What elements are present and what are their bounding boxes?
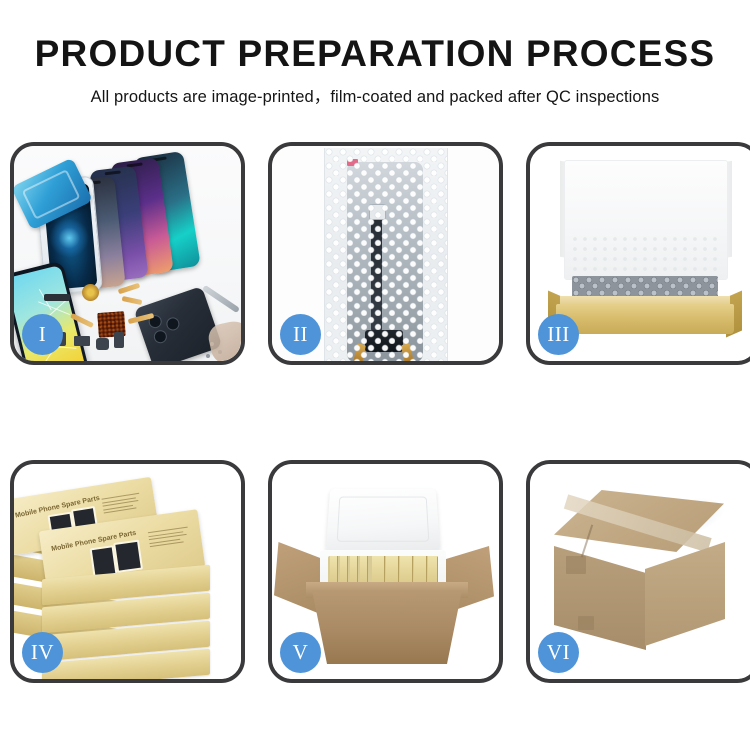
step-badge-3: III [538,314,579,355]
bubble-wrap-texture [325,148,447,361]
step-badge-6: VI [538,632,579,673]
step-badge-2: II [280,314,321,355]
foam-sheet [570,234,722,278]
carton-tape-patch-b [578,616,594,630]
part-screw-c [206,354,210,358]
gold-box-front [556,304,734,334]
part-small-d [114,332,124,348]
page-title: PRODUCT PREPARATION PROCESS [0,34,750,73]
step-badge-4: IV [22,632,63,673]
carton-tape-patch-a [566,556,586,574]
part-chip-strip [44,294,70,301]
process-step-grid: I II [10,142,742,683]
carton-body [312,590,462,664]
gold-box-spec-lines-left [102,492,144,516]
process-step-card-4: Mobile Phone Spare Parts Mobile Phone Sp… [10,460,245,683]
page-header: PRODUCT PREPARATION PROCESS All products… [0,0,750,107]
step-badge-1: I [22,314,63,355]
part-coil [82,284,99,301]
bubble-wrap-bag [324,148,448,361]
step-badge-5: V [280,632,321,673]
process-step-card-1: I [10,142,245,365]
process-step-card-3: III [526,142,750,365]
part-small-c [96,338,109,350]
process-step-card-6: VI [526,460,750,683]
process-step-card-5: V [268,460,503,683]
part-small-b [74,336,90,346]
gold-box-spec-lines-front [148,526,192,550]
page-subtitle: All products are image-printed，film-coat… [0,83,750,107]
foam-box-lid [326,489,441,553]
process-step-card-2: II [268,142,503,365]
